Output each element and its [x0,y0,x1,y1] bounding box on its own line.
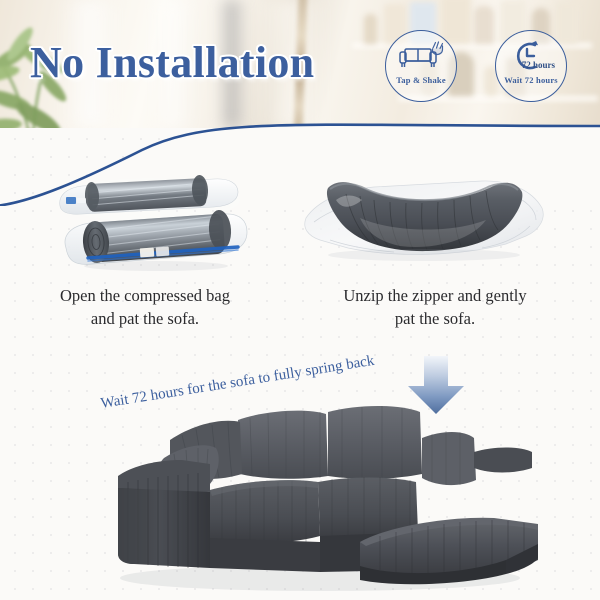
caption-line: pat the sofa. [310,307,560,330]
page-title: No Installation [30,38,314,88]
badge-tap-and-shake[interactable]: Tap & Shake [385,30,457,102]
unzipped-sofa-photo [300,160,550,272]
step-caption-unzip: Unzip the zipper and gently pat the sofa… [310,284,560,330]
infographic-page: No Installation Tap & Shake [0,0,600,600]
compressed-rolls-photo [48,162,248,274]
shelf-object [441,0,471,44]
badge-wait-72-hours[interactable]: 72 hours Wait 72 hours [495,30,567,102]
caption-line: and pat the sofa. [20,307,270,330]
sofa-tap-icon [395,40,447,72]
shelf-object [556,2,578,44]
shelf-object [364,14,377,44]
caption-line: Unzip the zipper and gently [310,284,560,307]
badge-hours-value: 72 hours [522,60,555,70]
step-caption-open-bag: Open the compressed bag and pat the sofa… [20,284,270,330]
caption-line: Open the compressed bag [20,284,270,307]
clock-icon: 72 hours [505,40,557,72]
badge-label: Tap & Shake [396,75,446,85]
down-arrow-icon [404,354,468,416]
badge-label: Wait 72 hours [504,75,558,85]
shelf-object [474,6,494,44]
sectional-sofa-photo [70,402,550,600]
